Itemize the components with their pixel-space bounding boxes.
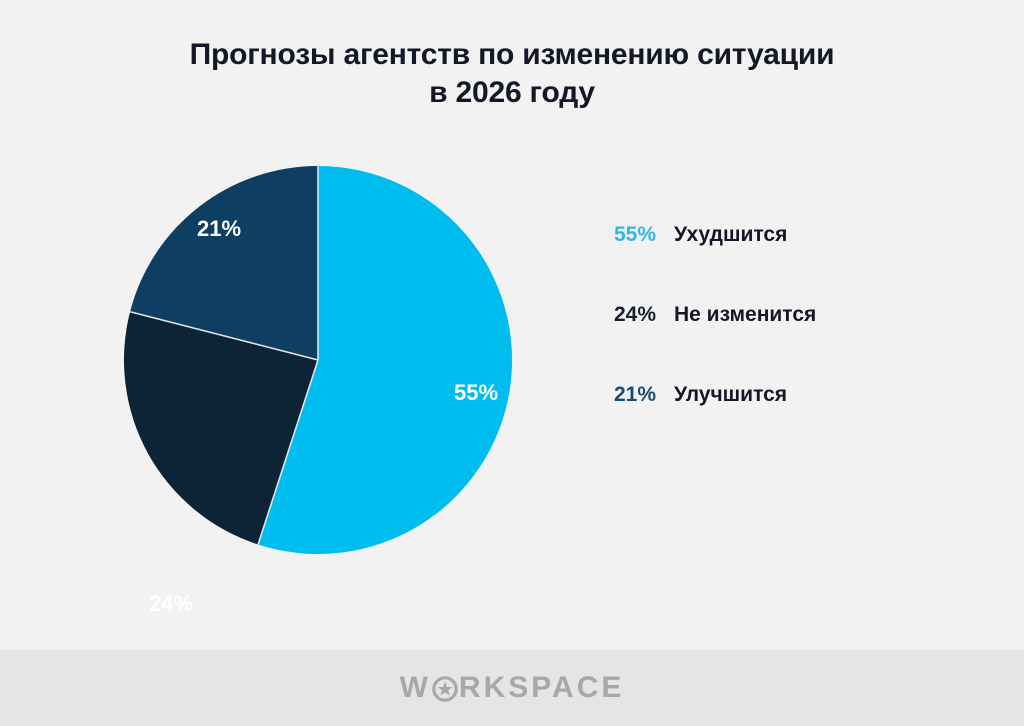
pie-chart-svg [124, 166, 512, 554]
footer-bar: W RKSPACE [0, 650, 1024, 726]
workspace-watermark: W RKSPACE [400, 671, 625, 705]
legend-item-uluchshitsya[interactable]: 21% Улучшится [598, 382, 928, 462]
pie-slice-value-label-1: 24% [149, 591, 193, 617]
legend-item-ne-izmenitsya[interactable]: 24% Не изменится [598, 302, 928, 382]
watermark-text-prefix: W [400, 671, 431, 705]
legend-percent-value: 21% [598, 382, 656, 408]
legend-item-label: Ухудшится [674, 222, 787, 248]
legend-item-label: Улучшится [674, 382, 787, 408]
legend-percent-value: 24% [598, 302, 656, 328]
legend-item-uhudshitsya[interactable]: 55% Ухудшится [598, 222, 928, 302]
watermark-text-suffix: RKSPACE [459, 671, 624, 705]
chart-title: Прогнозы агентств по изменению ситуации … [0, 36, 1024, 112]
infographic-canvas: Прогнозы агентств по изменению ситуации … [0, 0, 1024, 726]
pie-chart: 55% 24% 21% [124, 166, 512, 554]
chart-title-line-1: Прогнозы агентств по изменению ситуации [190, 38, 835, 71]
chart-title-line-2: в 2026 году [0, 74, 1024, 112]
legend-percent-value: 55% [598, 222, 656, 248]
star-in-circle-icon [432, 676, 458, 702]
legend-item-label: Не изменится [674, 302, 816, 328]
chart-legend: 55% Ухудшится 24% Не изменится 21% Улучш… [598, 222, 928, 462]
